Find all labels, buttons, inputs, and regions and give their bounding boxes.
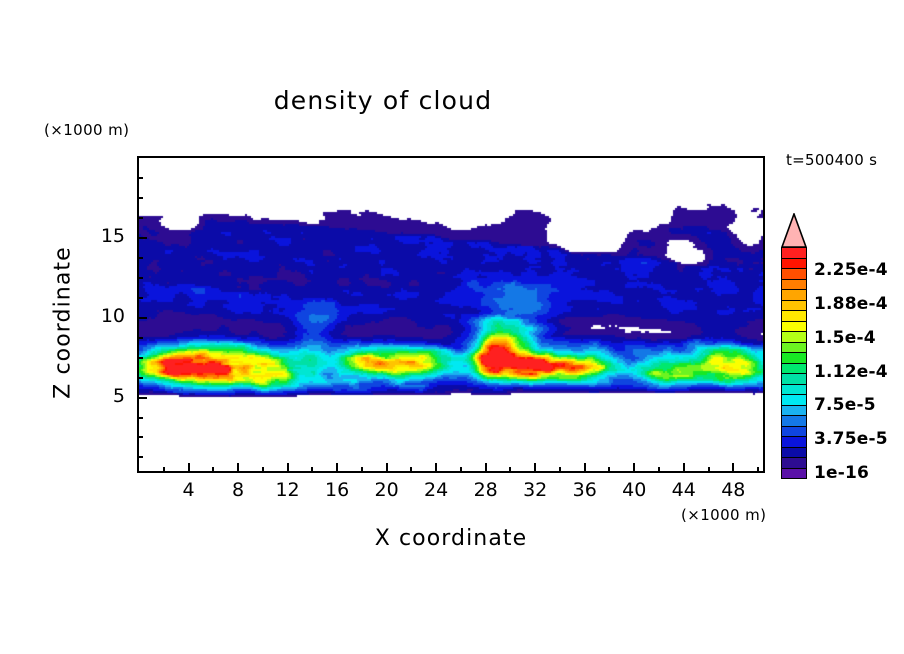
colorbar-tick-label: 1.5e-4 (814, 328, 876, 348)
x-minor-tick (559, 467, 561, 473)
x-axis-title: X coordinate (137, 526, 765, 551)
x-minor-tick (262, 467, 264, 473)
x-minor-tick (658, 467, 660, 473)
x-axis-unit-label: (×1000 m) (681, 506, 766, 524)
colorbar-tick-label: 1.12e-4 (814, 362, 888, 382)
colorbar-tick-label: 1e-16 (814, 463, 869, 483)
x-major-tick (534, 463, 536, 473)
y-minor-tick (137, 357, 143, 359)
x-minor-tick (410, 467, 412, 473)
y-minor-tick (137, 277, 143, 279)
y-minor-tick (137, 377, 143, 379)
time-stamp-annotation: t=500400 s (786, 151, 877, 169)
x-minor-tick (608, 467, 610, 473)
page-title: density of cloud (0, 86, 766, 115)
y-major-tick (137, 237, 147, 239)
y-tick-label: 15 (51, 225, 125, 247)
x-minor-tick (708, 467, 710, 473)
colorbar-band (781, 468, 807, 480)
colorbar-tick-label: 7.5e-5 (814, 395, 876, 415)
y-minor-tick (137, 337, 143, 339)
x-minor-tick (509, 467, 511, 473)
y-tick-label: 5 (51, 385, 125, 407)
y-minor-tick (137, 297, 143, 299)
x-minor-tick (212, 467, 214, 473)
x-major-tick (683, 463, 685, 473)
y-minor-tick (137, 197, 143, 199)
x-minor-tick (361, 467, 363, 473)
y-minor-tick (137, 257, 143, 259)
y-major-tick (137, 397, 147, 399)
x-minor-tick (757, 467, 759, 473)
y-minor-tick (137, 417, 143, 419)
x-major-tick (485, 463, 487, 473)
x-major-tick (237, 463, 239, 473)
colorbar-overflow-arrow (781, 213, 807, 248)
y-minor-tick (137, 456, 143, 458)
x-major-tick (336, 463, 338, 473)
x-minor-tick (163, 467, 165, 473)
figure-canvas: density of cloud (×1000 m) (×1000 m) X c… (0, 0, 904, 654)
y-minor-tick (137, 217, 143, 219)
cloud-density-contour-field (139, 158, 763, 471)
colorbar (781, 247, 807, 478)
y-minor-tick (137, 177, 143, 179)
z-axis-unit-label: (×1000 m) (44, 121, 129, 139)
colorbar-tick-label: 2.25e-4 (814, 260, 888, 280)
x-major-tick (188, 463, 190, 473)
y-major-tick (137, 317, 147, 319)
x-major-tick (287, 463, 289, 473)
colorbar-arrow-icon (781, 213, 807, 248)
x-major-tick (386, 463, 388, 473)
colorbar-tick-label: 1.88e-4 (814, 294, 888, 314)
x-tick-label: 48 (703, 479, 763, 501)
x-minor-tick (460, 467, 462, 473)
x-major-tick (732, 463, 734, 473)
colorbar-tick-label: 3.75e-5 (814, 429, 888, 449)
x-minor-tick (311, 467, 313, 473)
plot-area (137, 156, 765, 473)
y-minor-tick (137, 436, 143, 438)
x-major-tick (584, 463, 586, 473)
y-tick-label: 10 (51, 305, 125, 327)
x-major-tick (633, 463, 635, 473)
x-major-tick (435, 463, 437, 473)
